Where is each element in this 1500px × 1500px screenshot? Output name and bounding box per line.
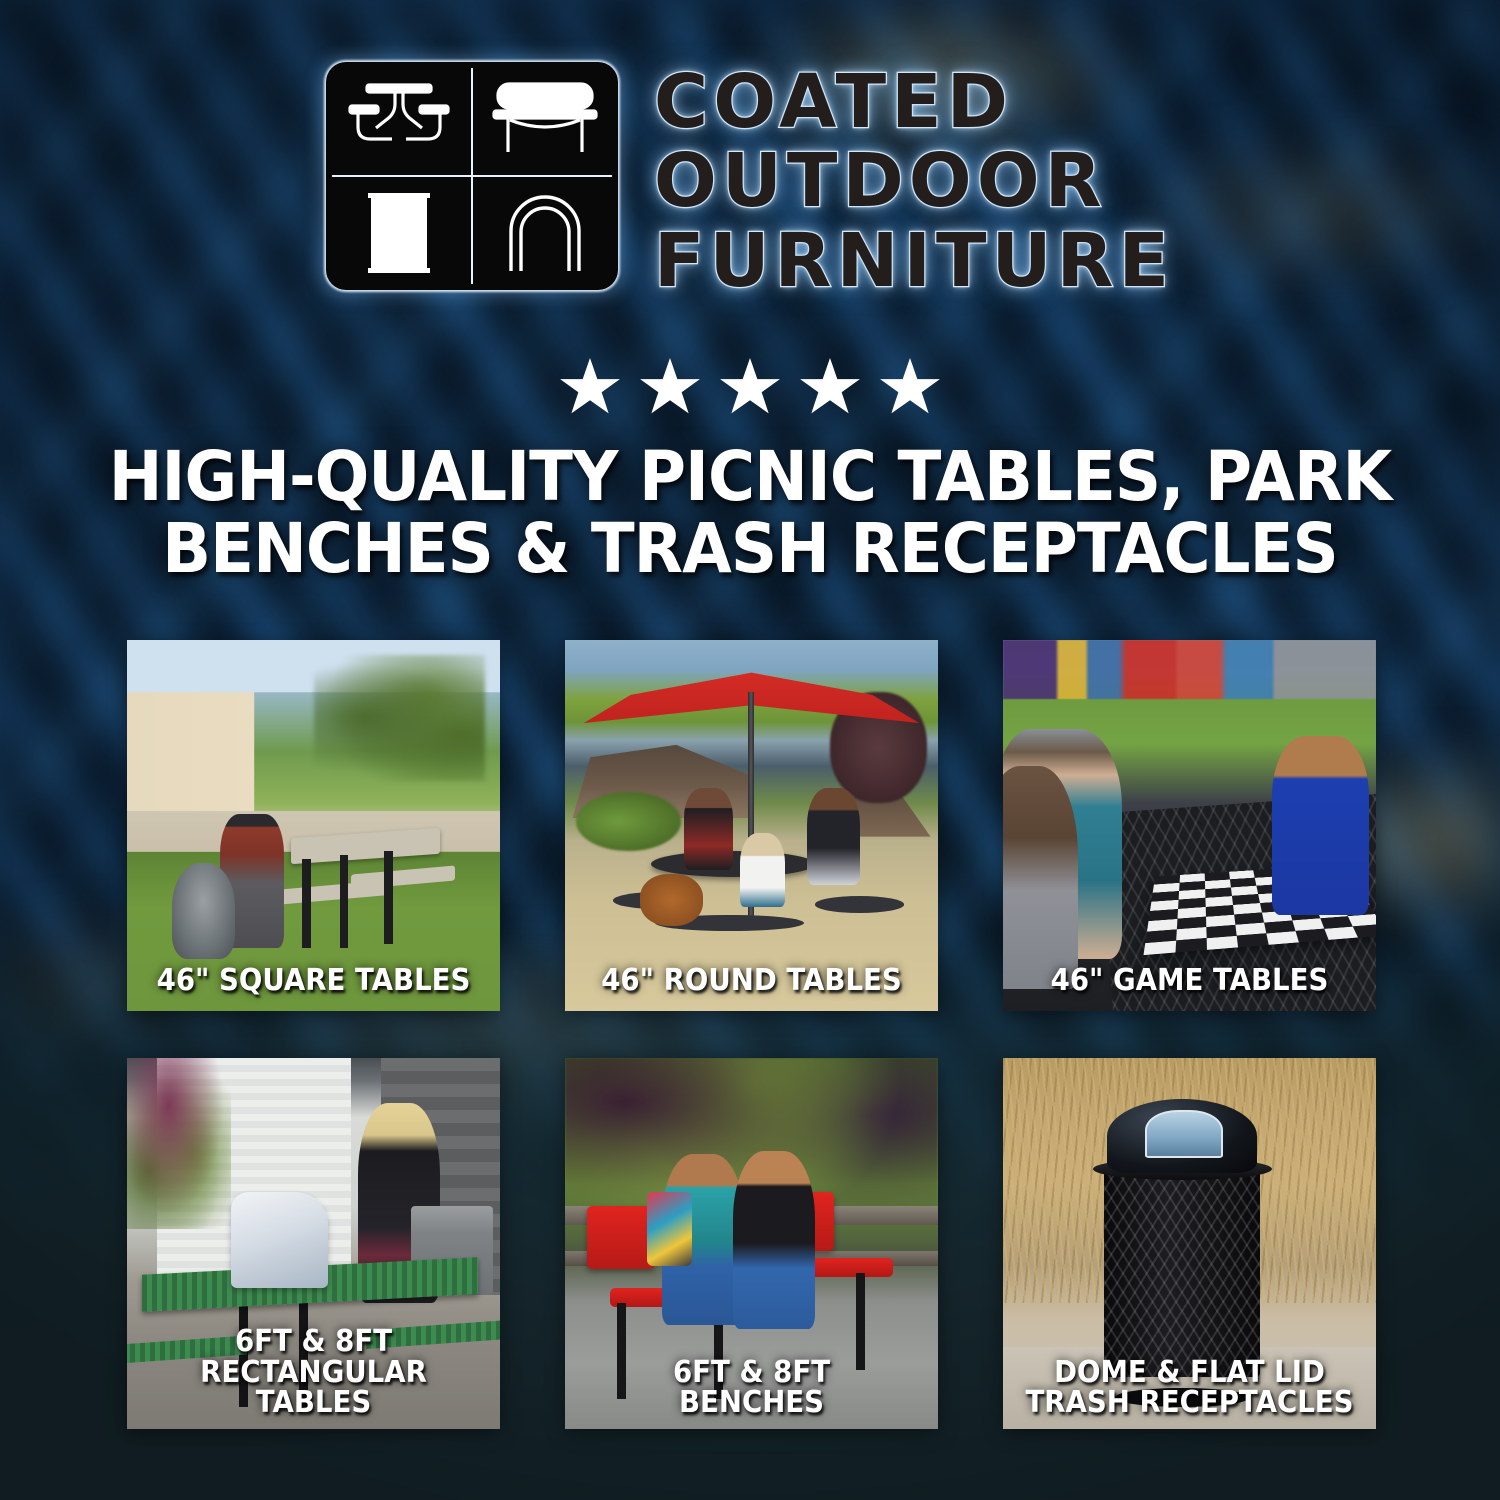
product-tile-benches[interactable]: 6FT & 8FT BENCHES (565, 1058, 938, 1429)
product-caption: 6FT & 8FT BENCHES (587, 1358, 915, 1419)
product-caption: 46" ROUND TABLES (587, 966, 915, 997)
product-caption: 6FT & 8FT RECTANGULAR TABLES (149, 1327, 477, 1419)
page-title: HIGH-QUALITY PICNIC TABLES, PARK BENCHES… (108, 442, 1391, 586)
star-icon (639, 358, 701, 418)
product-tile-square-tables[interactable]: 46" SQUARE TABLES (127, 640, 500, 1011)
product-tile-game-tables[interactable]: 46" GAME TABLES (1003, 640, 1376, 1011)
star-icon (799, 358, 861, 418)
product-caption: 46" GAME TABLES (1025, 966, 1353, 997)
picnic-table-icon (326, 62, 472, 176)
star-icon (879, 358, 941, 418)
bench-icon (472, 62, 618, 176)
brand-wordmark: COATED OUTDOOR FURNITURE (654, 62, 1174, 298)
product-tile-trash-receptacles[interactable]: DOME & FLAT LID TRASH RECEPTACLES (1003, 1058, 1376, 1429)
promo-banner: COATED OUTDOOR FURNITURE HIGH-QUALITY PI… (0, 0, 1500, 1500)
star-rating (0, 358, 1500, 418)
star-icon (719, 358, 781, 418)
dome-lid-icon (472, 176, 618, 290)
product-photo-game-tables (1003, 640, 1376, 1011)
logo-line-1: COATED (654, 66, 1174, 139)
headline-line-2: BENCHES & TRASH RECEPTACLES (108, 514, 1391, 586)
product-caption: 46" SQUARE TABLES (149, 966, 477, 997)
logo-icon-grid (326, 62, 618, 290)
product-photo-square-tables (127, 640, 500, 1011)
product-tile-round-tables[interactable]: 46" ROUND TABLES (565, 640, 938, 1011)
product-grid: 46" SQUARE TABLES 46" ROUND TABLES (127, 640, 1375, 1429)
logo-line-3: FURNITURE (654, 225, 1174, 298)
product-caption: DOME & FLAT LID TRASH RECEPTACLES (1025, 1358, 1353, 1419)
trash-can-icon (326, 176, 472, 290)
logo-line-2: OUTDOOR (654, 145, 1174, 218)
headline-line-1: HIGH-QUALITY PICNIC TABLES, PARK (108, 442, 1391, 514)
star-icon (559, 358, 621, 418)
product-photo-round-tables (565, 640, 938, 1011)
brand-logo: COATED OUTDOOR FURNITURE (0, 62, 1500, 298)
product-tile-rectangular-tables[interactable]: 6FT & 8FT RECTANGULAR TABLES (127, 1058, 500, 1429)
